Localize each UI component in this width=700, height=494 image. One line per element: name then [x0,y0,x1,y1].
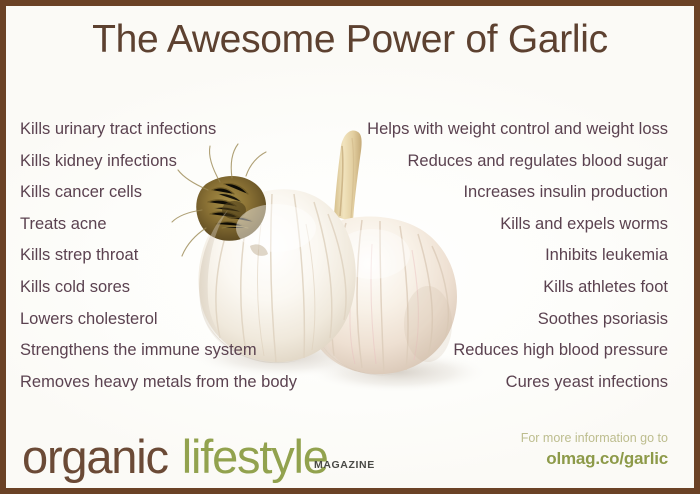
page-title: The Awesome Power of Garlic [6,18,694,62]
cta-url-link[interactable]: olmag.co/garlic [521,447,668,472]
logo-word-organic: organic [22,430,168,483]
benefit-item: Kills and expels worms [367,209,668,241]
benefit-item: Increases insulin production [367,177,668,209]
cta-prompt-text: For more information go to [521,429,668,447]
logo-word-magazine: MAGAZINE [314,460,375,471]
benefit-item: Kills cold sores [20,272,297,304]
benefits-column-left: Kills urinary tract infections Kills kid… [20,114,297,398]
benefits-column-right: Helps with weight control and weight los… [367,114,668,398]
benefit-item: Kills urinary tract infections [20,114,297,146]
benefit-item: Treats acne [20,209,297,241]
benefit-item: Soothes psoriasis [367,304,668,336]
benefit-item: Lowers cholesterol [20,304,297,336]
benefit-item: Kills kidney infections [20,146,297,178]
benefit-item: Reduces and regulates blood sugar [367,146,668,178]
benefit-item: Helps with weight control and weight los… [367,114,668,146]
organic-lifestyle-magazine-logo[interactable]: organiclifestyle MAGAZINE [22,433,328,480]
logo-word-lifestyle: lifestyle [182,430,328,483]
benefit-item: Kills strep throat [20,240,297,272]
benefit-item: Removes heavy metals from the body [20,367,297,399]
benefit-item: Inhibits leukemia [367,240,668,272]
infographic-poster: The Awesome Power of Garlic [0,0,700,494]
benefit-item: Reduces high blood pressure [367,335,668,367]
benefit-item: Kills athletes foot [367,272,668,304]
benefit-item: Cures yeast infections [367,367,668,399]
call-to-action: For more information go to olmag.co/garl… [521,429,668,472]
benefit-item: Kills cancer cells [20,177,297,209]
benefit-item: Strengthens the immune system [20,335,297,367]
